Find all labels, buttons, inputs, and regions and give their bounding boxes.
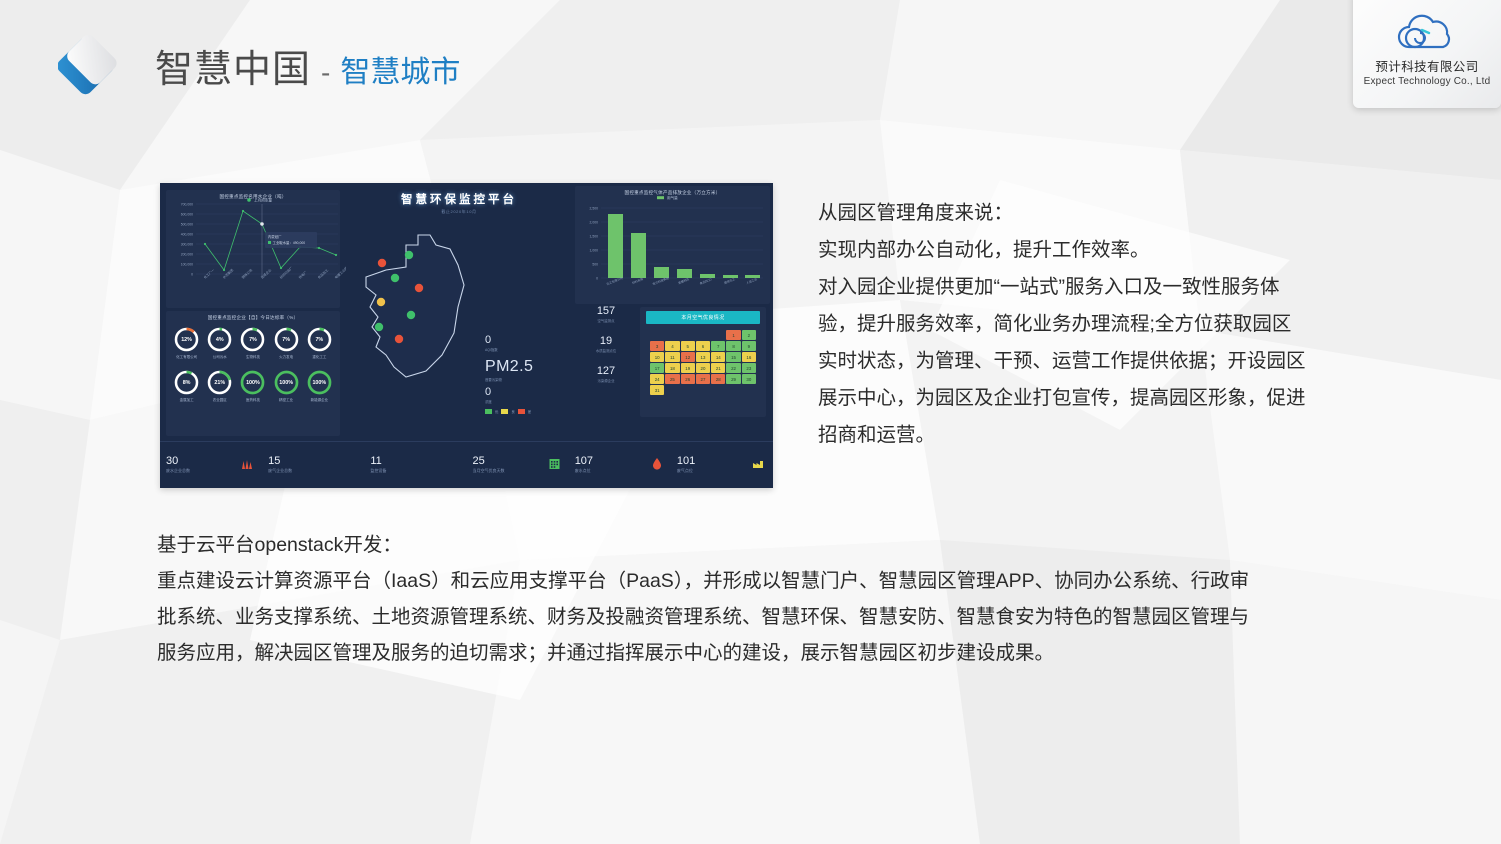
dashboard-footer-stats: 30 废水企业总数 15 废气企业总数 11 监控设备 25 当月空气优良天数 <box>160 441 773 488</box>
gauge-label: 生物科技 <box>237 355 269 360</box>
footer-stat-caption: 监控设备 <box>370 468 386 474</box>
map-marker-layer <box>346 215 572 415</box>
heatmap-grid[interactable]: 1234567891011121314151617181920212223242… <box>650 330 756 395</box>
footer-stat-value: 25 <box>473 456 505 468</box>
legend-swatch-good <box>485 409 492 414</box>
footer-stat: 25 当月空气优良天数 <box>467 442 569 488</box>
concentration-caption: 浓度 <box>485 399 533 404</box>
gauge-value: 100% <box>239 380 266 386</box>
concentration-value: 0 <box>485 387 533 398</box>
heatmap-cell-empty <box>665 330 679 340</box>
gauge-value: 7% <box>239 337 266 343</box>
gauge-value: 100% <box>273 380 300 386</box>
gauge-item: 100% 精密工业 <box>270 369 302 403</box>
gauge-value: 8% <box>173 380 200 386</box>
gauge-label: 新能源企业 <box>303 398 335 403</box>
heatmap-cell-day[interactable]: 15 <box>726 352 740 362</box>
gauge-label: 化工有限公司 <box>171 355 203 360</box>
gauge-panel-title: 国控重点监控企业【自】今日达标率（%） <box>166 311 340 321</box>
gauge-value: 4% <box>206 337 233 343</box>
svg-text:2,000: 2,000 <box>590 221 599 225</box>
gauge-label: 金属加工 <box>171 398 203 403</box>
heatmap-cell-day[interactable]: 31 <box>650 385 664 395</box>
body-line: 验，提升服务效率，简化业务办理流程;全方位获取园区 <box>818 306 1366 343</box>
svg-text:600,000: 600,000 <box>181 213 193 217</box>
gas-emission-bar-chart: 国控重点监控气体产品排放企业（万立方米） 用气量 2,5002,000 1,50… <box>575 186 770 304</box>
gauge-item: 8% 金属加工 <box>171 369 203 403</box>
company-name-en: Expect Technology Co., Ltd <box>1364 76 1491 87</box>
droplet-icon <box>651 457 663 473</box>
title-separator: - <box>321 57 330 89</box>
heatmap-cell-day[interactable]: 8 <box>726 341 740 351</box>
bottom-body-text: 基于云平台openstack开发： 重点建设云计算资源平台（IaaS）和云应用支… <box>157 527 1357 671</box>
body-line: 重点建设云计算资源平台（IaaS）和云应用支撑平台（PaaS），并形成以智慧门户… <box>157 563 1357 599</box>
body-line: 服务应用，解决园区管理及服务的迫切需求；并通过指挥展示中心的建设，展示智慧园区初… <box>157 635 1357 671</box>
svg-text:钢铁公司: 钢铁公司 <box>240 267 253 279</box>
gauge-value: 7% <box>273 337 300 343</box>
heatmap-cell-day[interactable]: 6 <box>696 341 710 351</box>
heatmap-cell-day[interactable]: 27 <box>696 374 710 384</box>
body-line: 实时状态，为管理、干预、运营工作提供依据；开设园区 <box>818 343 1366 380</box>
stat-value: 127 <box>575 365 637 377</box>
stat-value: 157 <box>575 305 637 317</box>
line-chart-canvas: 700,000600,000 500,000400,000 300,000200… <box>166 190 346 302</box>
svg-text:用气量: 用气量 <box>667 195 678 200</box>
stat-caption: 空气监测点 <box>575 318 637 323</box>
gauge-value: 21% <box>206 380 233 386</box>
plant-icon <box>751 457 765 473</box>
title-main: 智慧中国 <box>155 38 311 93</box>
heatmap-cell-day[interactable]: 4 <box>665 341 679 351</box>
footer-stat-value: 101 <box>677 456 695 468</box>
svg-text:电镀工业园: 电镀工业园 <box>333 265 346 279</box>
body-line: 实现内部办公自动化，提升工作效率。 <box>818 232 1366 269</box>
heatmap-cell-empty <box>650 330 664 340</box>
cloud-icon <box>1389 13 1465 55</box>
legend-swatch-fair <box>501 409 508 414</box>
bar-chart-canvas: 用气量 2,5002,000 1,5001,000 5000 <box>575 186 770 298</box>
gauge-item: 7% 火力发电 <box>270 326 302 360</box>
gauge-item: 21% 农业园区 <box>204 369 236 403</box>
dashboard-middle-column: 智慧环保监控平台 截止2020年10月 0 <box>346 183 572 441</box>
gauge-label: 医药科技 <box>237 398 269 403</box>
body-line: 展示中心，为园区及企业打包宣传，提高园区形象，促进 <box>818 380 1366 417</box>
body-line: 基于云平台openstack开发： <box>157 527 1357 563</box>
gauge-row-top: 12% 化工有限公司 4% 公司污水 <box>166 321 340 360</box>
footer-stat-value: 11 <box>370 456 386 468</box>
heatmap-cell-day[interactable]: 30 <box>742 374 756 384</box>
gauge-label: 火力发电 <box>270 355 302 360</box>
heatmap-cell-empty <box>696 330 710 340</box>
body-line: 招商和运营。 <box>818 417 1366 454</box>
heatmap-cell-day[interactable]: 3 <box>650 341 664 351</box>
svg-text:内蒙纸厂: 内蒙纸厂 <box>268 234 282 239</box>
body-line: 从园区管理角度来说： <box>818 195 1366 232</box>
svg-text:100,000: 100,000 <box>181 263 193 267</box>
dashboard-screenshot: 国控重点监控名用水企业（吨） 700,000600,000 500,000400… <box>160 183 773 488</box>
heatmap-cell-day[interactable]: 11 <box>665 352 679 362</box>
footer-stat-caption: 当月空气优良天数 <box>473 468 505 474</box>
gauge-label: 重化工工 <box>303 355 335 360</box>
heatmap-cell-day[interactable]: 19 <box>681 363 695 373</box>
heatmap-cell-day[interactable]: 1 <box>726 330 740 340</box>
dashboard-left-column: 国控重点监控名用水企业（吨） 700,000600,000 500,000400… <box>160 183 346 441</box>
stat-caption: 污染源企业 <box>575 378 637 383</box>
heatmap-cell-day[interactable]: 24 <box>650 374 664 384</box>
gauge-item: 100% 医药科技 <box>237 369 269 403</box>
gauge-value: 12% <box>173 337 200 343</box>
svg-text:工业取水量：490,000: 工业取水量：490,000 <box>273 240 306 245</box>
heatmap-cell-day[interactable]: 18 <box>665 363 679 373</box>
svg-text:1,500: 1,500 <box>590 235 599 239</box>
air-quality-legend: 优 良 差 <box>485 409 533 414</box>
heatmap-cell-empty <box>711 330 725 340</box>
heatmap-cell-day[interactable]: 28 <box>711 374 725 384</box>
svg-text:热电厂: 热电厂 <box>297 270 307 280</box>
body-line: 批系统、业务支撑系统、土地资源管理系统、财务及投融资管理系统、智慧环保、智慧安防… <box>157 599 1357 635</box>
body-line: 对入园企业提供更加“一站式”服务入口及一致性服务体 <box>818 269 1366 306</box>
region-map[interactable]: 0 AQI指数 PM2.5 首要污染物 0 浓度 优 良 差 <box>346 215 572 415</box>
gauge-item: 4% 公司污水 <box>204 326 236 360</box>
stat-item: 157 空气监测点 <box>575 305 637 323</box>
platform-title: 智慧环保监控平台 <box>346 183 572 207</box>
air-quality-readout: 0 AQI指数 PM2.5 首要污染物 0 浓度 优 良 差 <box>485 335 533 414</box>
footer-stat-caption: 废水点位 <box>575 468 593 474</box>
svg-text:1,000: 1,000 <box>590 249 599 253</box>
aqi-value: 0 <box>485 335 533 346</box>
heatmap-cell-day[interactable]: 2 <box>742 330 756 340</box>
heatmap-cell-day[interactable]: 16 <box>742 352 756 362</box>
svg-text:食品加工: 食品加工 <box>316 267 329 280</box>
heatmap-title: 本月空气优良情况 <box>646 311 760 324</box>
svg-text:2,500: 2,500 <box>590 207 599 211</box>
svg-text:造纸企业: 造纸企业 <box>259 267 272 279</box>
primary-pollutant-caption: 首要污染物 <box>485 377 533 382</box>
factory-icon <box>240 457 254 474</box>
svg-text:300,000: 300,000 <box>181 243 193 247</box>
gauge-value: 100% <box>306 380 333 386</box>
right-body-text: 从园区管理角度来说： 实现内部办公自动化，提升工作效率。 对入园企业提供更加“一… <box>818 195 1366 454</box>
page-title: 智慧中国 - 智慧城市 <box>155 38 460 93</box>
svg-text:200,000: 200,000 <box>181 253 193 257</box>
legend-label-poor: 差 <box>528 409 531 414</box>
legend-label-fair: 良 <box>511 409 514 414</box>
heatmap-cell-day[interactable]: 5 <box>681 341 695 351</box>
brand-logo-icon <box>58 30 130 102</box>
footer-stat-value: 30 <box>166 456 190 468</box>
heatmap-cell-day[interactable]: 9 <box>742 341 756 351</box>
gauge-item: 100% 新能源企业 <box>303 369 335 403</box>
heatmap-cell-day[interactable]: 17 <box>650 363 664 373</box>
gauge-item: 12% 化工有限公司 <box>171 326 203 360</box>
stat-value: 19 <box>575 335 637 347</box>
footer-stat-value: 107 <box>575 456 593 468</box>
heatmap-cell-day[interactable]: 21 <box>711 363 725 373</box>
gauge-label: 精密工业 <box>270 398 302 403</box>
heatmap-cell-day[interactable]: 29 <box>726 374 740 384</box>
svg-text:0: 0 <box>596 277 598 281</box>
svg-text:化工厂一: 化工厂一 <box>202 267 215 280</box>
heatmap-cell-empty <box>681 330 695 340</box>
footer-stat-caption: 废水企业总数 <box>166 468 190 474</box>
heatmap-cell-day[interactable]: 23 <box>742 363 756 373</box>
heatmap-cell-day[interactable]: 13 <box>696 352 710 362</box>
footer-stat-caption: 废气点位 <box>677 468 695 474</box>
svg-text:700,000: 700,000 <box>181 203 193 207</box>
gauge-item: 7% 生物科技 <box>237 326 269 360</box>
gauge-value: 7% <box>306 337 333 343</box>
heatmap-cell-day[interactable]: 22 <box>726 363 740 373</box>
footer-stat: 15 废气企业总数 <box>262 442 364 488</box>
footer-stat-caption: 废气企业总数 <box>268 468 292 474</box>
air-quality-heatmap: 本月空气优良情况 1234567891011121314151617181920… <box>640 307 766 417</box>
footer-stat: 101 废气点位 <box>671 442 773 488</box>
footer-stat: 107 废水点位 <box>569 442 671 488</box>
calendar-icon <box>548 457 561 473</box>
slide-header: 智慧中国 - 智慧城市 预计科技有限公司 Expect Technology C… <box>0 0 1501 130</box>
primary-pollutant-value: PM2.5 <box>485 358 533 376</box>
svg-text:500,000: 500,000 <box>181 223 193 227</box>
svg-text:上月用水量: 上月用水量 <box>254 198 272 203</box>
water-usage-line-chart: 国控重点监控名用水企业（吨） 700,000600,000 500,000400… <box>166 190 340 308</box>
gauge-row-bottom: 8% 金属加工 21% 农业园区 <box>166 360 340 403</box>
dashboard-right-column: 国控重点监控气体产品排放企业（万立方米） 用气量 2,5002,000 1,50… <box>572 183 773 441</box>
legend-label-good: 优 <box>495 409 498 414</box>
gauge-label: 农业园区 <box>204 398 236 403</box>
title-subtitle: 智慧城市 <box>340 47 460 91</box>
svg-text:500: 500 <box>592 263 598 267</box>
svg-text:400,000: 400,000 <box>181 233 193 237</box>
footer-stat: 30 废水企业总数 <box>160 442 262 488</box>
footer-stat: 11 监控设备 <box>364 442 466 488</box>
stat-item: 19 水质监测点位 <box>575 335 637 353</box>
gauge-label: 公司污水 <box>204 355 236 360</box>
aqi-caption: AQI指数 <box>485 347 533 352</box>
footer-stat-value: 15 <box>268 456 292 468</box>
heatmap-cell-day[interactable]: 10 <box>650 352 664 362</box>
gauge-item: 7% 重化工工 <box>303 326 335 360</box>
corner-company-logo: 预计科技有限公司 Expect Technology Co., Ltd <box>1353 0 1501 108</box>
right-stat-column: 157 空气监测点 19 水质监测点位 127 污染源企业 <box>575 305 637 395</box>
legend-swatch-poor <box>518 409 525 414</box>
heatmap-cell-day[interactable]: 14 <box>711 352 725 362</box>
heatmap-cell-day[interactable]: 25 <box>665 374 679 384</box>
heatmap-cell-day[interactable]: 20 <box>696 363 710 373</box>
stat-item: 127 污染源企业 <box>575 365 637 383</box>
company-name-cn: 预计科技有限公司 <box>1375 56 1478 75</box>
stat-caption: 水质监测点位 <box>575 348 637 353</box>
heatmap-cell-day[interactable]: 7 <box>711 341 725 351</box>
svg-text:0: 0 <box>191 273 193 277</box>
compliance-gauge-panel: 国控重点监控企业【自】今日达标率（%） 12% 化工有限公司 <box>166 311 340 436</box>
heatmap-cell-day[interactable]: 12 <box>681 352 695 362</box>
heatmap-cell-day[interactable]: 26 <box>681 374 695 384</box>
